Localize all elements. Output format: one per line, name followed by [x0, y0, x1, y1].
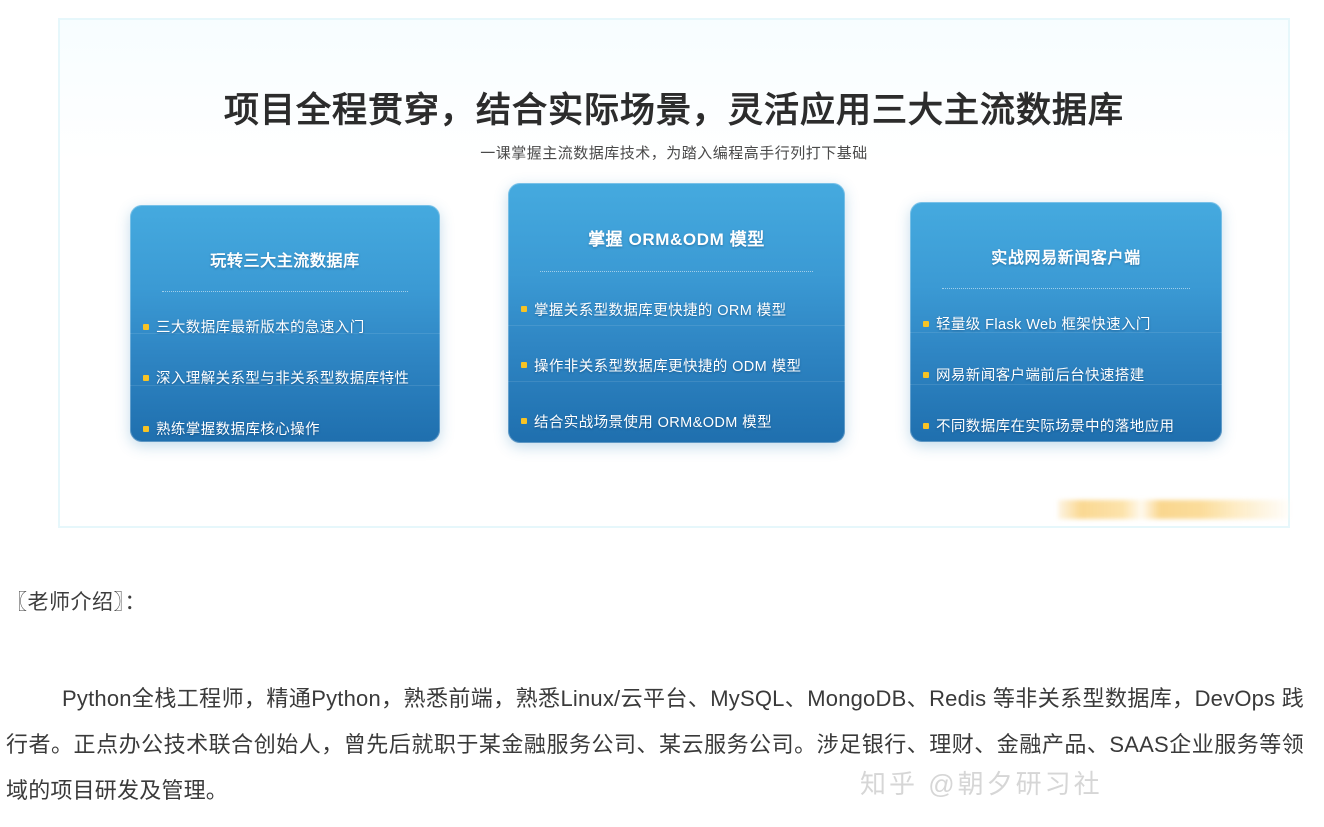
feature-card-2: 掌握 ORM&ODM 模型 掌握关系型数据库更快捷的 ORM 模型 操作非关系型…	[508, 183, 845, 443]
bullet-icon	[923, 321, 929, 327]
list-item: 结合实战场景使用 ORM&ODM 模型	[508, 393, 845, 443]
feature-card-3-list: 轻量级 Flask Web 框架快速入门 网易新闻客户端前后台快速搭建 不同数据…	[910, 298, 1222, 442]
list-item: 不同数据库在实际场景中的落地应用	[910, 400, 1222, 442]
feature-card-1-divider	[162, 291, 408, 292]
bullet-icon	[143, 375, 149, 381]
bullet-icon	[923, 423, 929, 429]
blurred-text-strip	[1058, 500, 1290, 519]
watermark: 知乎 @朝夕研习社	[860, 764, 1103, 801]
feature-card-3: 实战网易新闻客户端 轻量级 Flask Web 框架快速入门 网易新闻客户端前后…	[910, 202, 1222, 442]
feature-item-text: 操作非关系型数据库更快捷的 ODM 模型	[534, 355, 801, 376]
feature-card-3-divider	[942, 288, 1190, 289]
list-item: 深入理解关系型与非关系型数据库特性	[130, 352, 440, 403]
feature-item-text: 网易新闻客户端前后台快速搭建	[936, 364, 1145, 385]
feature-item-text: 轻量级 Flask Web 框架快速入门	[936, 313, 1151, 334]
list-item: 轻量级 Flask Web 框架快速入门	[910, 298, 1222, 349]
feature-card-1-title: 玩转三大主流数据库	[130, 247, 440, 271]
bullet-icon	[143, 426, 149, 432]
teacher-intro-heading: 〖老师介绍〗：	[6, 586, 146, 616]
feature-card-3-title: 实战网易新闻客户端	[910, 244, 1222, 268]
feature-item-text: 不同数据库在实际场景中的落地应用	[936, 415, 1174, 436]
list-item: 三大数据库最新版本的急速入门	[130, 301, 440, 352]
list-item: 操作非关系型数据库更快捷的 ODM 模型	[508, 337, 845, 393]
feature-card-2-divider	[540, 271, 813, 272]
bullet-icon	[521, 362, 527, 368]
feature-card-2-title: 掌握 ORM&ODM 模型	[508, 225, 845, 250]
feature-item-text: 掌握关系型数据库更快捷的 ORM 模型	[534, 299, 786, 320]
promo-banner: 项目全程贯穿，结合实际场景，灵活应用三大主流数据库 一课掌握主流数据库技术，为踏…	[0, 0, 1324, 540]
list-item: 熟练掌握数据库核心操作	[130, 403, 440, 442]
feature-item-text: 深入理解关系型与非关系型数据库特性	[156, 367, 409, 388]
list-item: 掌握关系型数据库更快捷的 ORM 模型	[508, 281, 845, 337]
feature-item-text: 三大数据库最新版本的急速入门	[156, 316, 365, 337]
bullet-icon	[923, 372, 929, 378]
bullet-icon	[521, 306, 527, 312]
feature-card-1: 玩转三大主流数据库 三大数据库最新版本的急速入门 深入理解关系型与非关系型数据库…	[130, 205, 440, 442]
feature-cards: 玩转三大主流数据库 三大数据库最新版本的急速入门 深入理解关系型与非关系型数据库…	[0, 0, 1324, 540]
feature-card-2-list: 掌握关系型数据库更快捷的 ORM 模型 操作非关系型数据库更快捷的 ODM 模型…	[508, 281, 845, 443]
feature-item-text: 熟练掌握数据库核心操作	[156, 418, 320, 439]
feature-card-1-list: 三大数据库最新版本的急速入门 深入理解关系型与非关系型数据库特性 熟练掌握数据库…	[130, 301, 440, 442]
teacher-intro-body: Python全栈工程师，精通Python，熟悉前端，熟悉Linux/云平台、My…	[6, 676, 1304, 814]
bullet-icon	[521, 418, 527, 424]
list-item: 网易新闻客户端前后台快速搭建	[910, 349, 1222, 400]
bullet-icon	[143, 324, 149, 330]
feature-item-text: 结合实战场景使用 ORM&ODM 模型	[534, 411, 772, 432]
